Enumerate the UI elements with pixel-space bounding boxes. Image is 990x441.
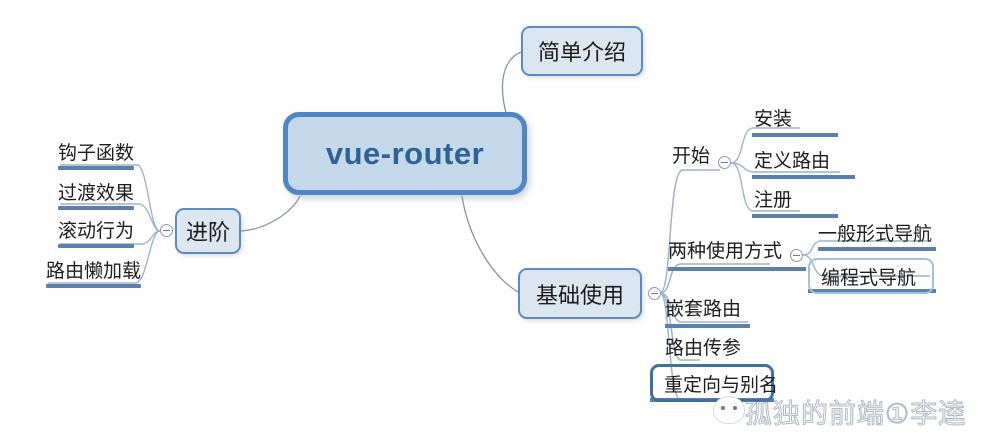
leaf-transition-effect[interactable]: 过渡效果 [58,184,134,203]
collapse-toggle-icon-advanced[interactable] [160,224,173,237]
branch-node-advanced[interactable]: 进阶 [175,208,241,254]
collapse-toggle-icon-start[interactable] [718,156,731,169]
leaf-route-params[interactable]: 路由传参 [665,339,741,358]
leaf-two-usage-modes[interactable]: 两种使用方式 [668,242,782,261]
wire-root-to-intro [502,52,521,119]
leaf-hook-functions[interactable]: 钩子函数 [58,144,134,163]
root-node-label: vue-router [326,136,484,172]
branch-node-intro[interactable]: 简单介绍 [521,26,643,76]
collapse-toggle-icon-two-ways[interactable] [790,249,803,262]
leaf-declarative-navigation[interactable]: 一般形式导航 [818,225,932,244]
watermark-avatar-icon [713,396,745,424]
wire-root-to-advanced [241,196,300,231]
branch-node-basic-label: 基础使用 [536,278,624,310]
wire-root-to-basic [462,196,518,292]
mindmap-canvas: vue-router 简单介绍 进阶 基础使用 钩子函数 过渡效果 滚动行为 路… [0,0,990,441]
leaf-define-routes[interactable]: 定义路由 [754,152,830,171]
leaf-start[interactable]: 开始 [672,147,710,166]
leaf-lazy-load-route[interactable]: 路由懒加载 [46,262,141,281]
branch-node-intro-label: 简单介绍 [538,35,626,67]
leaf-install[interactable]: 安装 [754,110,792,129]
root-node[interactable]: vue-router [283,112,527,195]
leaf-nested-routes[interactable]: 嵌套路由 [665,300,741,319]
collapse-toggle-icon-basic[interactable] [648,287,661,300]
connector-layer [0,0,990,441]
leaf-register[interactable]: 注册 [754,191,792,210]
watermark-text: 孤独的前端①李逵 [745,392,966,431]
branch-node-advanced-label: 进阶 [186,215,230,247]
branch-node-basic[interactable]: 基础使用 [518,268,642,319]
leaf-programmatic-navigation[interactable]: 编程式导航 [808,258,934,294]
leaf-scroll-behavior[interactable]: 滚动行为 [58,222,134,241]
leaf-programmatic-navigation-label: 编程式导航 [810,263,916,290]
